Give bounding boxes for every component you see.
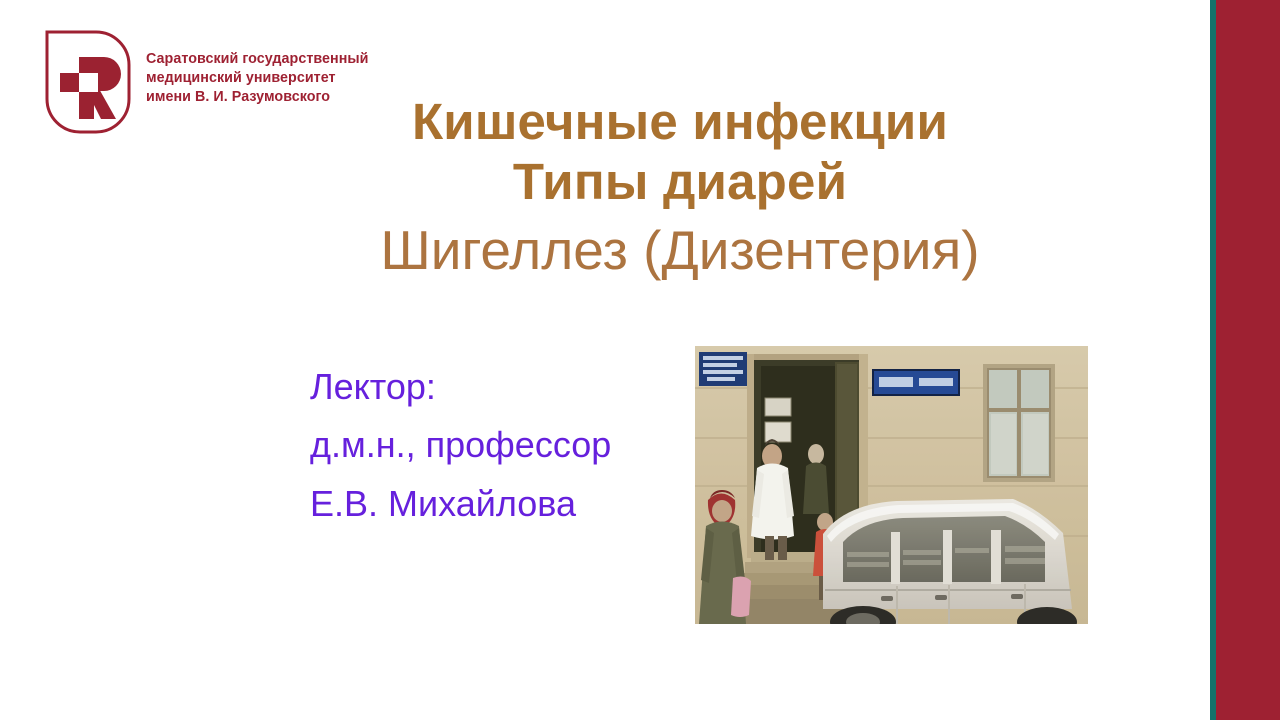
page-title-line-3: Шигеллез (Дизентерия) [180,218,1180,283]
university-name-line-2: медицинский университет [146,69,369,88]
lecturer-block: Лектор: д.м.н., профессор Е.В. Михайлова [310,358,611,533]
hospital-entrance-illustration [695,346,1088,624]
university-name-line-1: Саратовский государственный [146,50,369,69]
lecturer-name: Е.В. Михайлова [310,475,611,533]
page-title-line-1: Кишечные инфекции [180,92,1180,152]
page-title-line-2: Типы диарей [180,152,1180,212]
slide-title-block: Кишечные инфекции Типы диарей Шигеллез (… [180,92,1180,283]
lecturer-label: Лектор: [310,358,611,416]
presentation-slide: Саратовский государственный медицинский … [0,0,1280,720]
university-shield-logo-icon [44,29,132,135]
lecturer-degree: д.м.н., профессор [310,416,611,474]
accent-band-crimson [1216,0,1280,720]
hospital-entrance-photo [695,346,1088,624]
